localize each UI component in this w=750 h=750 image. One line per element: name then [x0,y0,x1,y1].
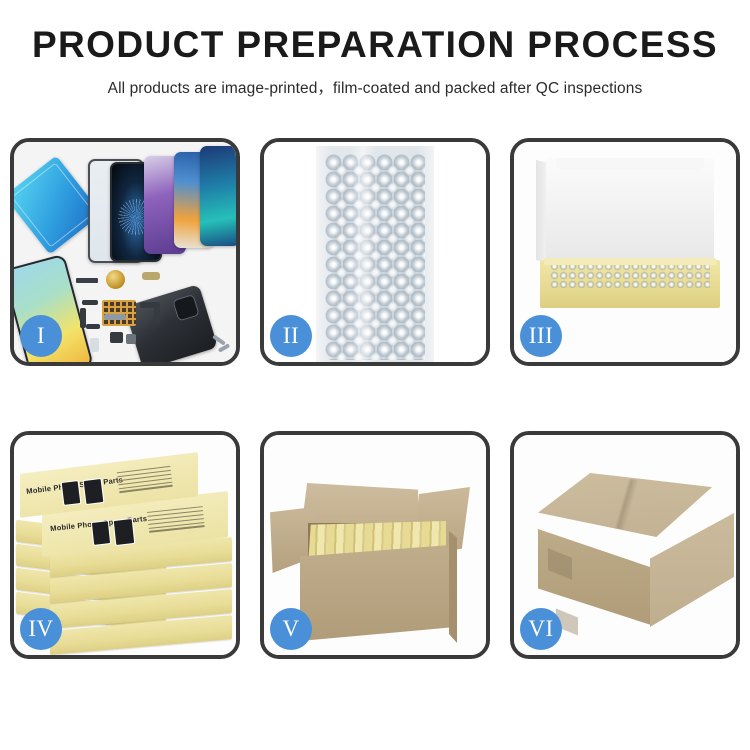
spare-part [142,272,160,280]
page-title: PRODUCT PREPARATION PROCESS [0,26,750,65]
process-steps-grid: I II III [10,138,740,659]
retail-box-screen-print [113,518,136,546]
retail-box-screen-print [83,478,105,505]
box-lid-back [546,158,714,268]
step-badge-2: II [270,315,312,357]
coil-part-icon [106,270,125,289]
step-panel-4: Mobile Phone Spare Parts Mobile Phone Sp… [10,431,240,659]
step-badge-4: IV [20,608,62,650]
bubble-wrapped-contents [550,262,710,288]
phone-teal-wave [200,146,236,246]
carton-front-face [300,545,450,641]
retail-box-screen-print [61,480,82,506]
step-panel-5: V [260,431,490,659]
spare-part [126,334,136,344]
step-panel-2: II [260,138,490,366]
spare-part [90,338,99,352]
spare-part [110,332,123,343]
step-badge-6: VI [520,608,562,650]
page-header: PRODUCT PREPARATION PROCESS All products… [0,0,750,98]
box-tray-lip [544,258,716,265]
step-badge-5: V [270,608,312,650]
carton-side-face [449,531,457,643]
step-panel-3: III [510,138,740,366]
step-badge-1: I [20,315,62,357]
bubble-texture-overlay [333,162,425,360]
bubble-wrap-package [316,146,434,362]
step-panel-6: VI [510,431,740,659]
spare-part [86,324,100,329]
step-badge-3: III [520,315,562,357]
plastic-sheen [350,146,376,362]
spare-part [76,278,98,283]
spare-part [154,308,160,324]
spare-part [104,314,126,320]
circuit-chip-part [102,300,136,326]
retail-box-screen-print [91,520,111,546]
spare-part [82,300,98,305]
step-panel-1: I [10,138,240,366]
page-subtitle: All products are image-printed，film-coat… [0,76,750,98]
